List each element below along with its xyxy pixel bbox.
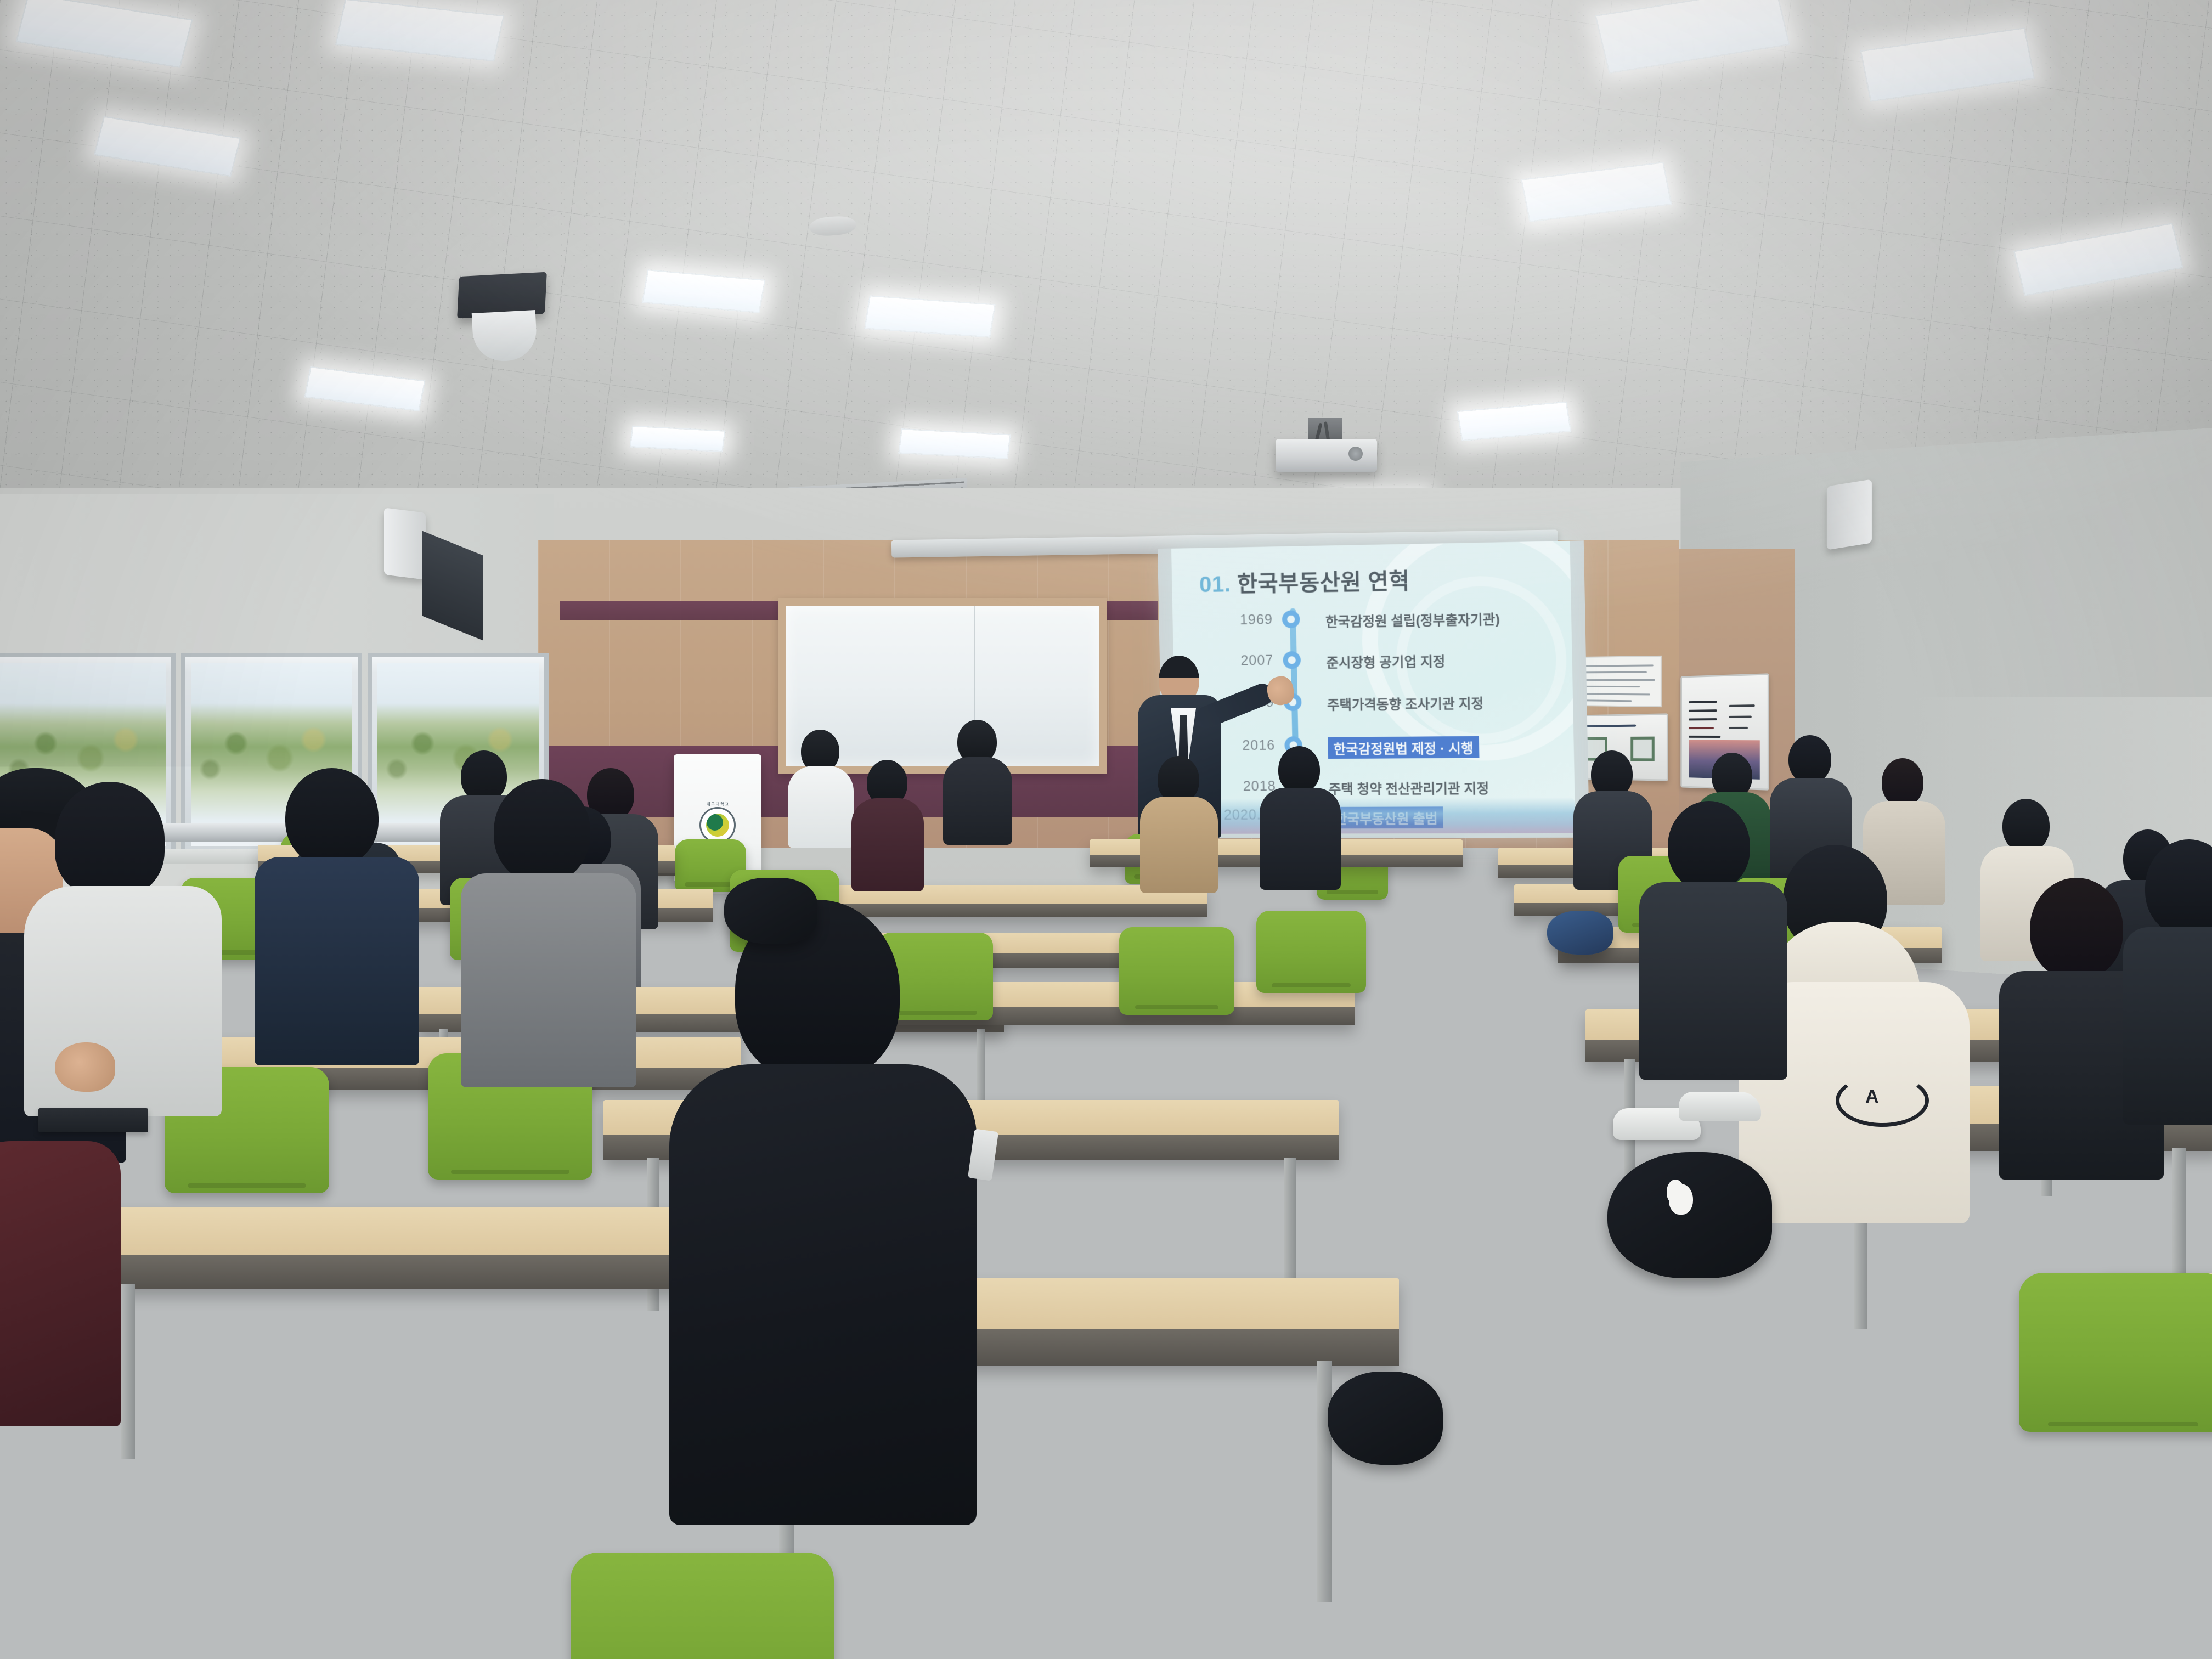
chair[interactable] (571, 1553, 834, 1659)
timeline-event-highlighted: 한국감정원법 제정 · 시행 (1328, 736, 1479, 759)
student-torso (461, 873, 636, 1087)
timeline-dot-icon (1282, 610, 1300, 628)
timeline-year: 1969 (1184, 612, 1273, 629)
wall-speaker-icon (384, 507, 426, 579)
emblem-top-text: 대 구 대 학 교 (707, 802, 729, 807)
projector-lens-icon (1348, 447, 1363, 461)
university-emblem-icon (699, 807, 736, 843)
timeline-event: 주택 청약 전산관리기관 지정 (1329, 777, 1489, 798)
wall-notice-sign (1577, 656, 1662, 707)
hand-icon (55, 1042, 115, 1092)
timeline-event: 한국감정원 설립(정부출자기관) (1325, 608, 1500, 630)
sneaker (1679, 1092, 1761, 1121)
backpack (1547, 911, 1613, 955)
student-head (1788, 735, 1831, 783)
slide-title-text: 한국부동산원 연혁 (1237, 569, 1410, 596)
wall-speaker-icon (1827, 479, 1872, 550)
laurel-wreath-icon (1836, 1074, 1929, 1127)
emblem-inner-shape (706, 814, 729, 837)
backpack (1607, 1152, 1772, 1278)
student-head (461, 751, 507, 802)
desk-leg (1317, 1361, 1332, 1602)
student-torso (255, 857, 419, 1065)
student-jacket (1639, 882, 1787, 1080)
hoodie-torso (24, 886, 222, 1116)
student-torso (851, 798, 924, 891)
student-torso (2123, 927, 2212, 1125)
student-head (494, 779, 590, 883)
student-head (55, 782, 165, 897)
slide-title-number: 01. (1199, 572, 1231, 597)
chair[interactable] (176, 1328, 406, 1503)
chair[interactable] (2019, 1273, 2212, 1432)
backpack (724, 878, 817, 944)
timeline-event: 주택가격동향 조사기관 지정 (1327, 692, 1484, 713)
student-head (1278, 746, 1320, 793)
student-head (1668, 801, 1750, 891)
student-torso (1140, 797, 1218, 893)
student-jacket (0, 1141, 121, 1426)
student-head (2030, 878, 2123, 980)
desk-leg (121, 1284, 135, 1459)
classroom-photo: 01. 한국부동산원 연혁 1969 한국감정원 설립(정부출자기관) 2007… (0, 0, 2212, 1659)
tote-bag (406, 1339, 592, 1448)
slide-title: 01. 한국부동산원 연혁 (1199, 563, 1410, 599)
student-torso (788, 766, 854, 848)
chair[interactable] (1256, 911, 1366, 993)
chair[interactable] (1119, 927, 1234, 1015)
student-head (1882, 758, 1923, 806)
timeline-event: 준시장형 공기업 지정 (1326, 651, 1445, 672)
student-torso (1260, 788, 1341, 890)
student-torso (943, 757, 1012, 845)
student-head (2002, 799, 2050, 853)
timeline-dot-icon (1283, 651, 1301, 669)
chair[interactable] (1810, 1393, 1975, 1520)
ceiling-projector (1276, 439, 1377, 472)
notebook-on-desk (38, 1108, 148, 1132)
backpack (1328, 1372, 1443, 1465)
bear-keychain-icon (1669, 1184, 1693, 1215)
student-head (285, 768, 379, 867)
student-jacket (669, 1064, 977, 1525)
